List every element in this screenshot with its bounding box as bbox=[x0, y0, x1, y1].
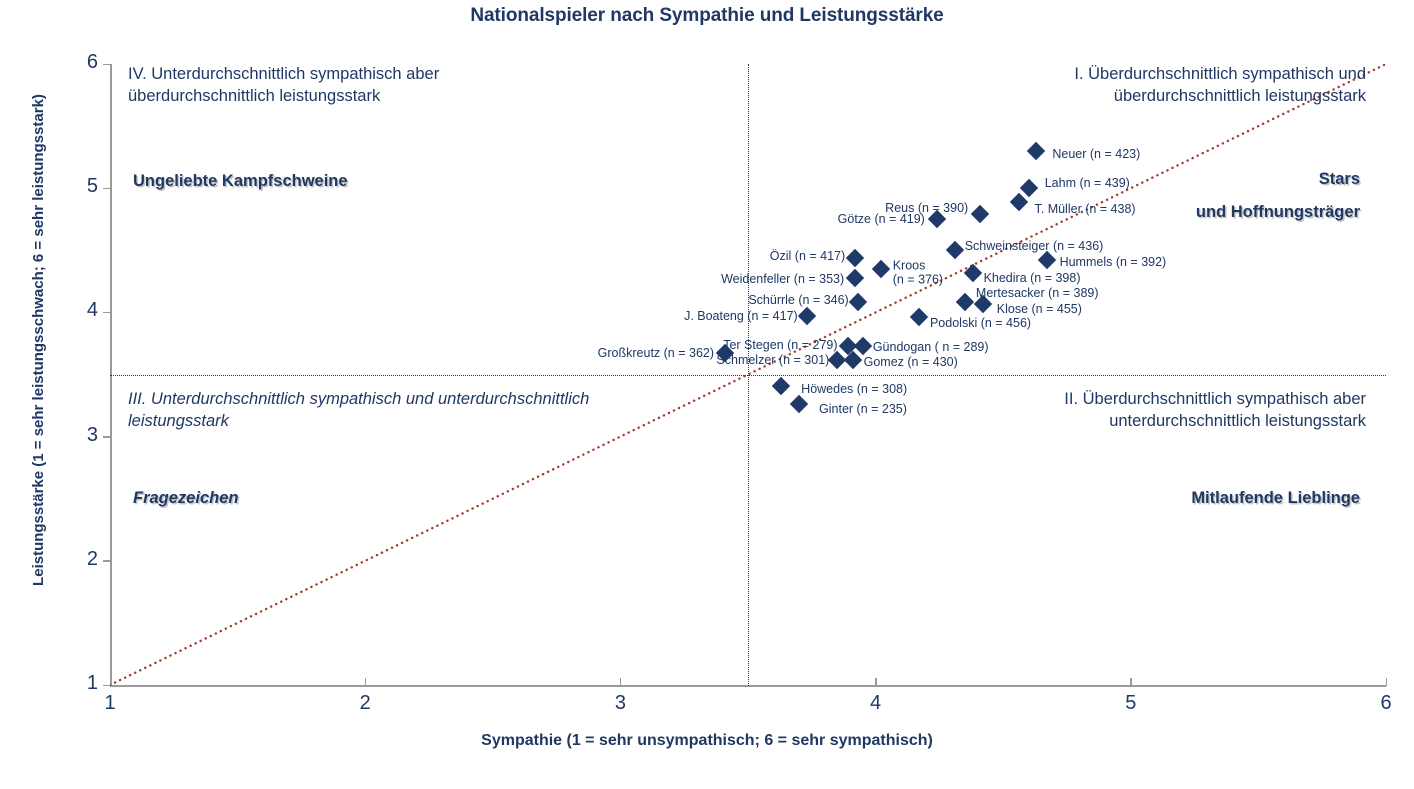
y-tick-mark bbox=[103, 188, 111, 190]
x-tick-mark bbox=[110, 678, 112, 686]
horizontal-reference-line bbox=[110, 375, 1386, 376]
x-tick-mark bbox=[365, 678, 367, 686]
y-tick-mark bbox=[103, 436, 111, 438]
y-tick-mark bbox=[103, 560, 111, 562]
quadrant-3-name: Fragezeichen bbox=[133, 489, 238, 508]
data-point-label: Klose (n = 455) bbox=[997, 302, 1082, 316]
x-tick-label-4: 4 bbox=[846, 692, 906, 715]
data-point-label: Ginter (n = 235) bbox=[819, 402, 907, 416]
data-point-label: Lahm (n = 439) bbox=[1045, 176, 1130, 190]
y-tick-mark bbox=[103, 312, 111, 314]
data-point-label: Mertesacker (n = 389) bbox=[976, 286, 1099, 300]
data-point-label: Khedira (n = 398) bbox=[984, 270, 1081, 284]
x-axis-title: Sympathie (1 = sehr unsympathisch; 6 = s… bbox=[0, 732, 1414, 750]
data-point-marker[interactable] bbox=[1020, 179, 1038, 197]
data-point-marker[interactable] bbox=[797, 307, 815, 325]
quadrant-1-name-line2: und Hoffnungsträger bbox=[1196, 203, 1360, 222]
y-tick-label-5: 5 bbox=[56, 175, 98, 198]
data-point-label: Kroos(n = 376) bbox=[893, 259, 943, 288]
x-tick-label-2: 2 bbox=[335, 692, 395, 715]
data-point-marker[interactable] bbox=[1037, 251, 1055, 269]
quadrant-2-description: II. Überdurchschnittlich sympathisch abe… bbox=[1064, 388, 1366, 433]
data-point-label: Weidenfeller (n = 353) bbox=[721, 271, 844, 285]
x-tick-label-5: 5 bbox=[1101, 692, 1161, 715]
data-point-label: Schmelzer (n = 301) bbox=[716, 352, 829, 366]
x-tick-mark bbox=[1130, 678, 1132, 686]
y-axis-title: Leistungsstärke (1 = sehr leistungsschwa… bbox=[30, 60, 49, 620]
y-tick-label-3: 3 bbox=[56, 424, 98, 447]
data-point-marker[interactable] bbox=[1009, 193, 1027, 211]
data-point-marker[interactable] bbox=[956, 293, 974, 311]
y-tick-label-2: 2 bbox=[56, 548, 98, 571]
data-point-label: Schweinsteiger (n = 436) bbox=[965, 239, 1104, 253]
data-point-label: Schürrle (n = 346) bbox=[748, 293, 848, 307]
x-tick-label-3: 3 bbox=[590, 692, 650, 715]
x-tick-mark bbox=[620, 678, 622, 686]
data-point-marker[interactable] bbox=[963, 263, 981, 281]
chart-title: Nationalspieler nach Sympathie und Leist… bbox=[0, 5, 1414, 27]
quadrant-1-description: I. Überdurchschnittlich sympathisch undü… bbox=[1074, 63, 1366, 108]
data-point-marker[interactable] bbox=[849, 293, 867, 311]
quadrant-1-name-line1: Stars bbox=[1319, 170, 1360, 189]
quadrant-3-description: III. Unterdurchschnittlich sympathisch u… bbox=[128, 388, 589, 433]
y-tick-label-6: 6 bbox=[56, 51, 98, 74]
quadrant-2-name: Mitlaufende Lieblinge bbox=[1191, 489, 1360, 508]
data-point-marker[interactable] bbox=[772, 376, 790, 394]
data-point-marker[interactable] bbox=[790, 395, 808, 413]
data-point-label: J. Boateng (n = 417) bbox=[684, 309, 798, 323]
data-point-label: Götze (n = 419) bbox=[838, 212, 925, 226]
chart-canvas: Nationalspieler nach Sympathie und Leist… bbox=[0, 0, 1414, 789]
data-point-label: Özil (n = 417) bbox=[770, 249, 845, 263]
data-point-marker[interactable] bbox=[872, 260, 890, 278]
data-point-label: Neuer (n = 423) bbox=[1052, 147, 1140, 161]
data-point-label: Höwedes (n = 308) bbox=[801, 381, 907, 395]
y-tick-mark bbox=[103, 64, 111, 66]
x-tick-label-1: 1 bbox=[80, 692, 140, 715]
data-point-label: Hummels (n = 392) bbox=[1060, 255, 1167, 269]
quadrant-4-name: Ungeliebte Kampfschweine bbox=[133, 172, 348, 191]
quadrant-4-description: IV. Unterdurchschnittlich sympathisch ab… bbox=[128, 63, 439, 108]
data-point-marker[interactable] bbox=[971, 205, 989, 223]
x-tick-mark bbox=[875, 678, 877, 686]
y-tick-label-4: 4 bbox=[56, 299, 98, 322]
data-point-label: Gündogan ( n = 289) bbox=[873, 340, 989, 354]
data-point-label: Podolski (n = 456) bbox=[930, 316, 1031, 330]
data-point-marker[interactable] bbox=[846, 268, 864, 286]
data-point-label: Ter Stegen (n = 279) bbox=[723, 338, 837, 352]
x-tick-mark bbox=[1386, 678, 1388, 686]
data-point-label: Großkreutz (n = 362) bbox=[598, 346, 714, 360]
data-point-label: Gomez (n = 430) bbox=[864, 354, 958, 368]
data-point-marker[interactable] bbox=[910, 308, 928, 326]
data-point-label: T. Müller (n = 438) bbox=[1035, 202, 1136, 216]
x-tick-label-6: 6 bbox=[1356, 692, 1414, 715]
data-point-marker[interactable] bbox=[946, 241, 964, 259]
data-point-marker[interactable] bbox=[854, 337, 872, 355]
data-point-marker[interactable] bbox=[846, 249, 864, 267]
data-point-marker[interactable] bbox=[1027, 142, 1045, 160]
